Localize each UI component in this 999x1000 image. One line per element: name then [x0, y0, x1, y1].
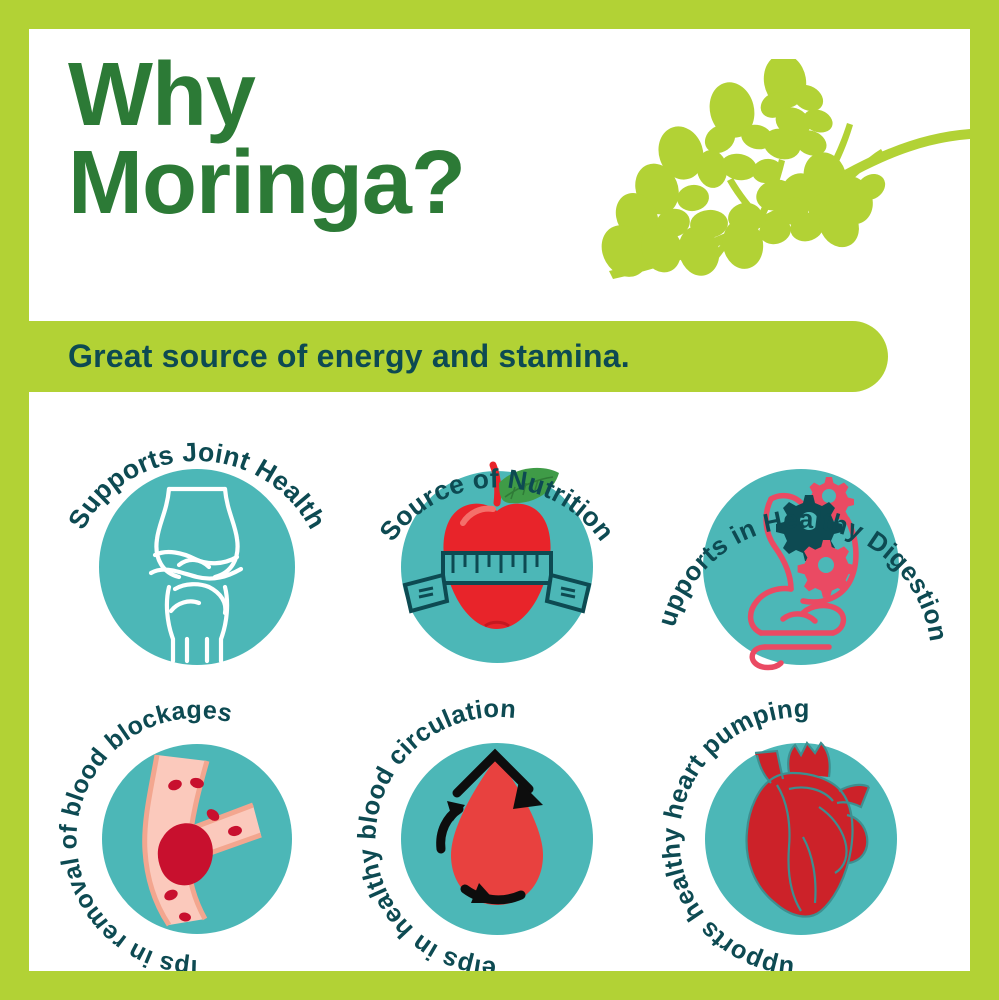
- badge-blood-circulation[interactable]: Helps in healthy blood circulation: [347, 689, 647, 971]
- header: Why Moringa?: [29, 29, 970, 292]
- badge-nutrition[interactable]: Source of Nutrition: [347, 407, 647, 689]
- moringa-branch-icon: [589, 59, 970, 289]
- badge-joint-health[interactable]: Supports Joint Health: [47, 407, 347, 689]
- subtitle-text: Great source of energy and stamina.: [68, 321, 630, 392]
- badge-blood-blockages[interactable]: Helps in removal of blood blockages: [47, 689, 347, 971]
- poster-card: Why Moringa?: [29, 29, 970, 971]
- badge-circle: [99, 469, 295, 665]
- badge-heart-pumping[interactable]: supports healthy heart pumping: [651, 689, 951, 971]
- poster-frame: Why Moringa?: [0, 0, 999, 1000]
- badge-digestion[interactable]: supports in Healthy Digestion: [651, 407, 951, 689]
- benefits-grid: Supports Joint Health: [29, 407, 970, 971]
- page-title: Why Moringa?: [68, 51, 628, 227]
- subtitle-banner: Great source of energy and stamina.: [29, 321, 888, 392]
